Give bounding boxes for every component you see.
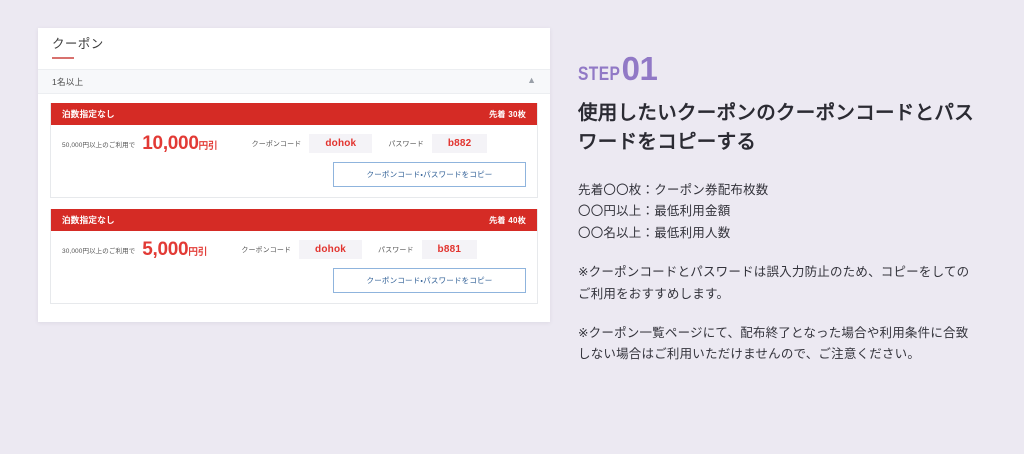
title-underline-accent [52,57,74,59]
note-text: ※クーポン一覧ページにて、配布終了となった場合や利用条件に合致しない場合はご利用… [578,323,978,367]
coupon-stock-badge: 先着 40枚 [489,215,526,226]
copy-button-row: クーポンコード・パスワードをコピー [62,268,526,293]
coupon-password-value[interactable]: b882 [432,134,488,153]
page-title: クーポン [52,36,536,53]
legend-block: 先着〇〇枚：クーポン券配布枚数 〇〇円以上：最低利用金額 〇〇名以上：最低利用人… [578,180,982,245]
coupon-code-label: クーポンコード [252,139,302,149]
step-heading: 使用したいクーポンのクーポンコードとパスワードをコピーする [578,99,974,158]
coupon-discount-amount: 10,000円引 [142,134,217,153]
coupon-code-group: クーポンコード dohok パスワード b881 [241,240,477,259]
card-header: クーポン [38,28,550,59]
copy-button-row: クーポンコード・パスワードをコピー [62,162,526,187]
coupon-password-label: パスワード [378,245,414,255]
coupon-header-bar: 泊数指定なし 先着 40枚 [51,209,537,231]
coupon-main-row: 30,000円以上のご利用で 5,000円引 クーポンコード dohok パスワ… [62,240,526,259]
copy-code-password-button[interactable]: クーポンコード・パスワードをコピー [333,162,526,187]
instruction-panel: STEP 01 使用したいクーポンのクーポンコードとパスワードをコピーする 先着… [578,52,982,366]
coupon-min-spend-text: 50,000円以上のご利用で [62,139,135,149]
coupon-header-bar: 泊数指定なし 先着 30枚 [51,103,537,125]
coupon-card: 泊数指定なし 先着 40枚 30,000円以上のご利用で 5,000円引 クーポ… [50,209,538,304]
step-number-label: 01 [622,52,658,85]
step-badge: STEP 01 [578,52,982,86]
legend-line: 先着〇〇枚：クーポン券配布枚数 [578,180,982,202]
coupon-main-row: 50,000円以上のご利用で 10,000円引 クーポンコード dohok パス… [62,134,526,153]
coupon-min-spend-text: 30,000円以上のご利用で [62,245,135,255]
step-word-label: STEP [578,64,620,86]
copy-code-password-button[interactable]: クーポンコード・パスワードをコピー [333,268,526,293]
coupon-discount-value: 10,000 [142,133,198,154]
note-text: ※クーポンコードとパスワードは誤入力防止のため、コピーをしてのご利用をおすすめし… [578,262,978,306]
coupon-code-group: クーポンコード dohok パスワード b882 [252,134,488,153]
coupon-body: 30,000円以上のご利用で 5,000円引 クーポンコード dohok パスワ… [51,231,537,303]
chevron-up-icon[interactable]: ▲ [527,76,536,85]
guest-count-filter-value: 1名以上 [52,76,83,88]
legend-line: 〇〇円以上：最低利用金額 [578,201,982,223]
coupon-code-value[interactable]: dohok [309,134,372,153]
coupon-discount-amount: 5,000円引 [142,240,207,259]
coupon-screenshot-card: クーポン 1名以上 ▲ 泊数指定なし 先着 30枚 50,000円以上のご利用で… [38,28,550,322]
coupon-discount-unit: 円引 [188,247,207,258]
coupon-password-value[interactable]: b881 [422,240,478,259]
coupon-password-label: パスワード [388,139,424,149]
coupon-list: 泊数指定なし 先着 30枚 50,000円以上のご利用で 10,000円引 クー… [38,94,550,316]
coupon-code-label: クーポンコード [241,245,291,255]
coupon-discount-unit: 円引 [199,141,218,152]
coupon-body: 50,000円以上のご利用で 10,000円引 クーポンコード dohok パス… [51,125,537,197]
guest-count-filter-row[interactable]: 1名以上 ▲ [38,69,550,94]
coupon-card: 泊数指定なし 先着 30枚 50,000円以上のご利用で 10,000円引 クー… [50,103,538,198]
coupon-stay-condition: 泊数指定なし [62,214,115,226]
coupon-code-value[interactable]: dohok [299,240,362,259]
legend-line: 〇〇名以上：最低利用人数 [578,223,982,245]
coupon-stay-condition: 泊数指定なし [62,108,115,120]
coupon-discount-value: 5,000 [142,239,188,260]
coupon-stock-badge: 先着 30枚 [489,109,526,120]
